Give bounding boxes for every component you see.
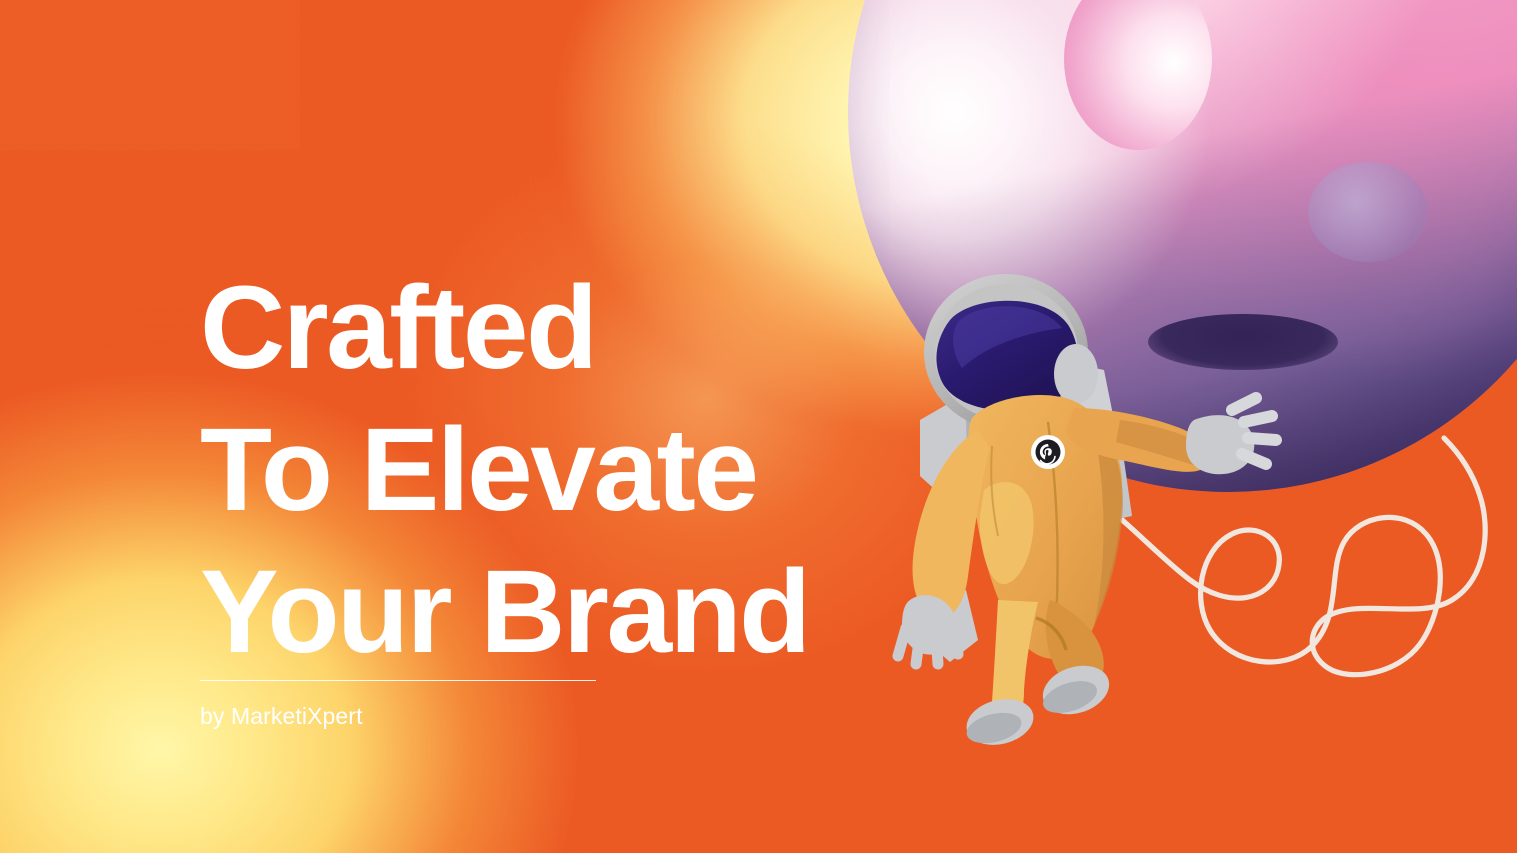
planet-crater-5 [1308, 162, 1428, 262]
astronaut-figure [880, 270, 1300, 750]
poster-canvas: Crafted To Elevate Your Brand by Marketi… [0, 0, 1517, 853]
headline-line-2: To Elevate [200, 399, 809, 541]
byline: by MarketiXpert [200, 703, 363, 730]
divider [200, 680, 596, 681]
headline-line-1: Crafted [200, 257, 809, 399]
headline-line-3: Your Brand [200, 541, 809, 683]
astronaut-left-arm [898, 430, 990, 664]
suit-badge-logo [1031, 435, 1065, 469]
page-title: Crafted To Elevate Your Brand [200, 257, 809, 683]
